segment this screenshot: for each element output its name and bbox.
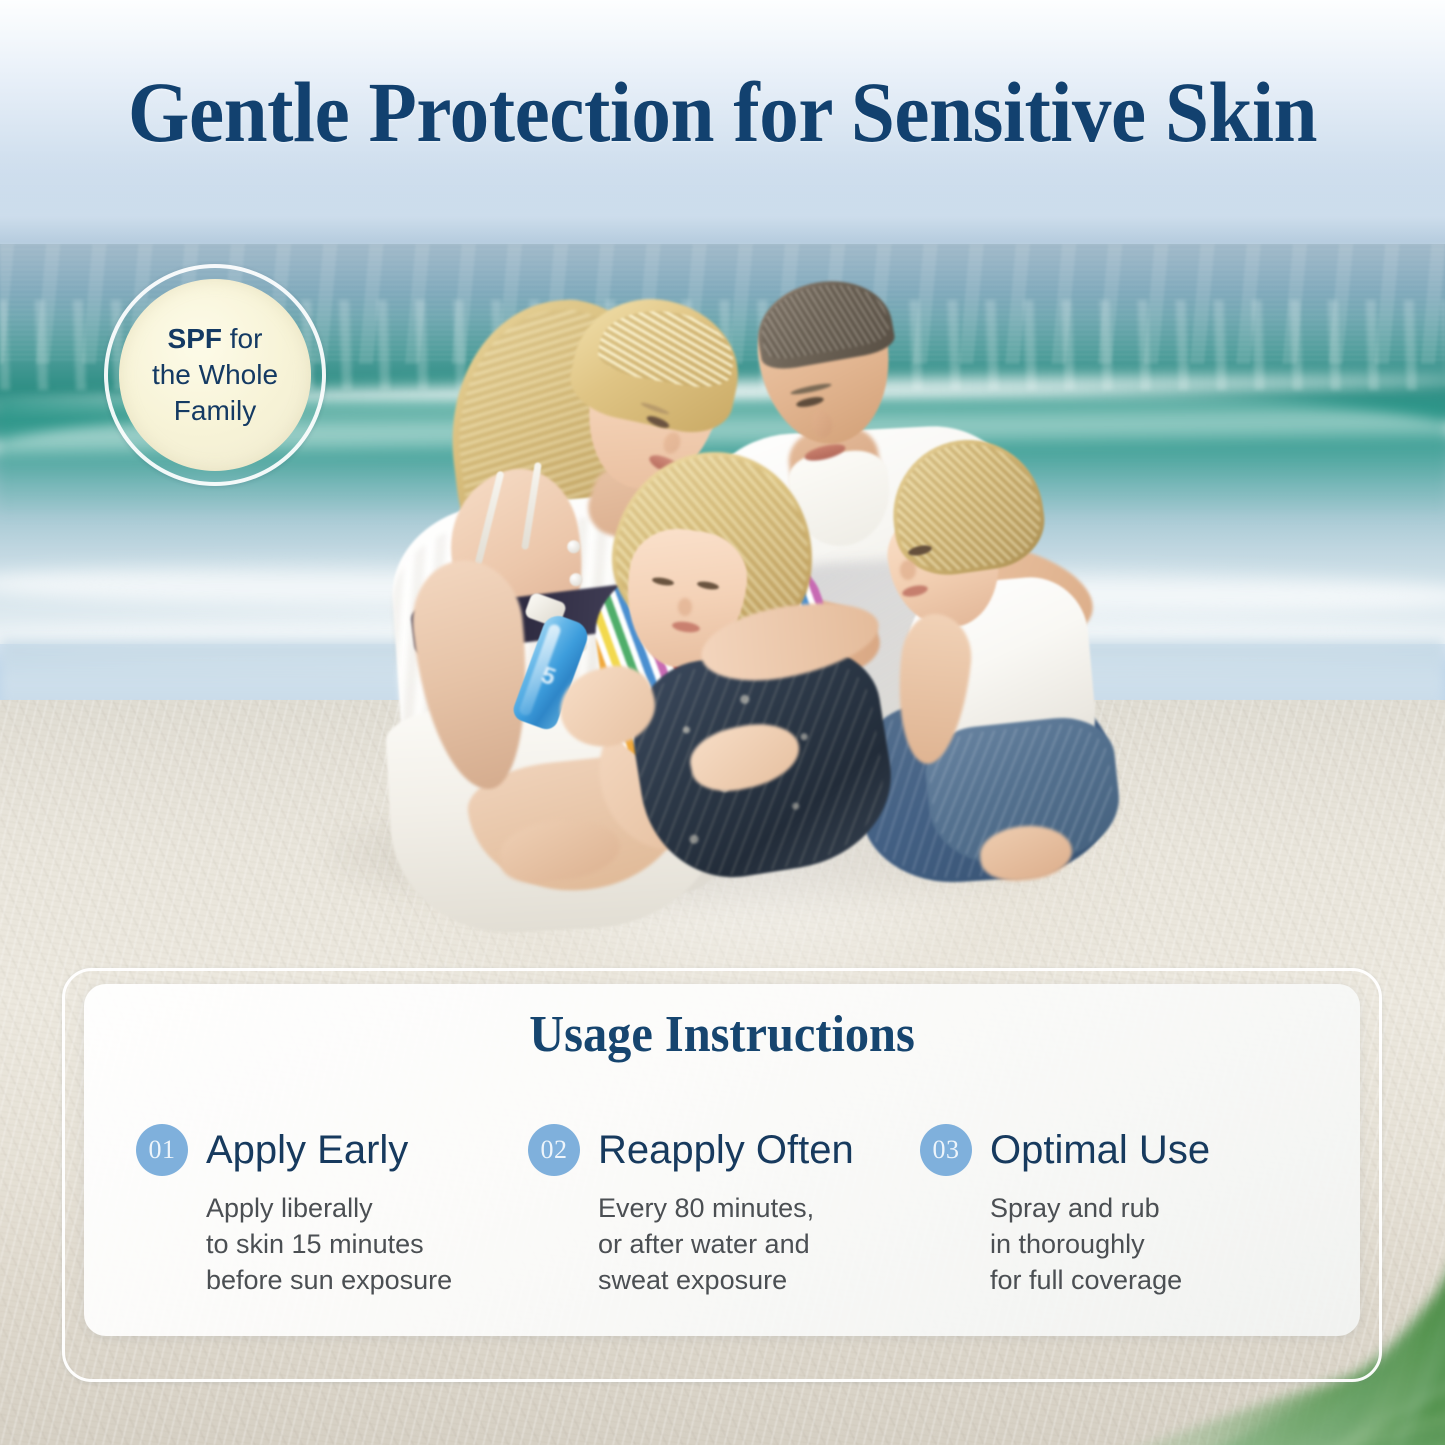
step-number-badge: 01 bbox=[136, 1124, 188, 1176]
page-title: Gentle Protection for Sensitive Skin bbox=[58, 64, 1387, 160]
spf-badge-line-1-rest: for bbox=[222, 323, 262, 354]
step-title: Optimal Use bbox=[990, 1127, 1210, 1173]
step-description: Spray and rub in thoroughly for full cov… bbox=[990, 1190, 1312, 1298]
girl-nose bbox=[678, 598, 692, 616]
step-description: Apply liberally to skin 15 minutes befor… bbox=[206, 1190, 528, 1298]
spf-badge-line-1: SPF for bbox=[168, 321, 263, 357]
step-number-badge: 02 bbox=[528, 1124, 580, 1176]
step-number-badge: 03 bbox=[920, 1124, 972, 1176]
spf-badge-core: SPF for the Whole Family bbox=[119, 279, 311, 471]
boy-nose bbox=[900, 560, 916, 580]
instructions-panel: Usage Instructions 01 Apply Early Apply … bbox=[84, 984, 1360, 1336]
spf-badge-line-2: the Whole bbox=[152, 357, 278, 393]
instruction-step-header: 03 Optimal Use bbox=[920, 1124, 1312, 1176]
poster-canvas: 5 Gentle Protection for Sensitive Skin S… bbox=[0, 0, 1445, 1445]
instruction-steps-list: 01 Apply Early Apply liberally to skin 1… bbox=[136, 1124, 1312, 1298]
spf-badge-bold: SPF bbox=[168, 323, 222, 354]
step-title: Reapply Often bbox=[598, 1127, 854, 1173]
spf-badge: SPF for the Whole Family bbox=[104, 264, 326, 486]
step-title: Apply Early bbox=[206, 1127, 408, 1173]
instruction-step-header: 02 Reapply Often bbox=[528, 1124, 920, 1176]
instructions-panel-title: Usage Instructions bbox=[129, 1004, 1316, 1066]
step-description: Every 80 minutes, or after water and swe… bbox=[598, 1190, 920, 1298]
instruction-step: 03 Optimal Use Spray and rub in thorough… bbox=[920, 1124, 1312, 1298]
instruction-step: 02 Reapply Often Every 80 minutes, or af… bbox=[528, 1124, 920, 1298]
spf-badge-line-3: Family bbox=[174, 393, 256, 429]
instruction-step-header: 01 Apply Early bbox=[136, 1124, 528, 1176]
instruction-step: 01 Apply Early Apply liberally to skin 1… bbox=[136, 1124, 528, 1298]
